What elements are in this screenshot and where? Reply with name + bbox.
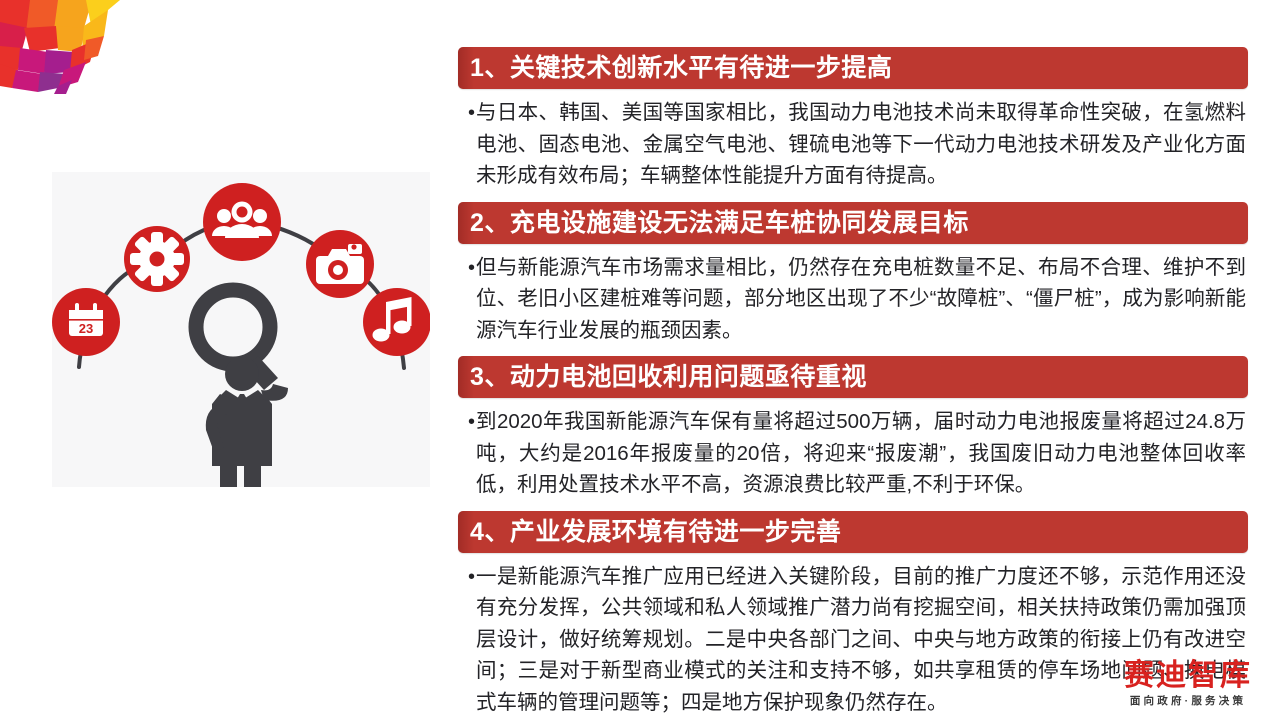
bullet-marker: • [468,406,475,438]
section-1-heading-bar: 1、关键技术创新水平有待进一步提高 [458,47,1248,89]
bullet-marker: • [468,252,475,284]
section-4-title: 4、产业发展环境有待进一步完善 [470,511,841,553]
bullet-marker: • [468,97,475,129]
music-note-icon [363,288,430,356]
polygonal-ribbon-graphic [0,0,120,95]
section-2-body: • 但与新能源汽车市场需求量相比，仍然存在充电桩数量不足、布局不合理、维护不到位… [458,250,1248,355]
section-3-title: 3、动力电池回收利用问题亟待重视 [470,356,867,398]
section-4-heading-bar: 4、产业发展环境有待进一步完善 [458,511,1248,553]
section-3-body: • 到2020年我国新能源汽车保有量将超过500万辆，届时动力电池报废量将超过2… [458,404,1248,509]
section-1-body: • 与日本、韩国、美国等国家相比，我国动力电池技术尚未取得革命性突破，在氢燃料电… [458,95,1248,200]
section-3-bullet-1: 到2020年我国新能源汽车保有量将超过500万辆，届时动力电池报废量将超过24.… [476,406,1246,501]
section-1-title: 1、关键技术创新水平有待进一步提高 [470,47,892,89]
calendar-icon: 23 [52,288,120,356]
section-2: 2、充电设施建设无法满足车桩协同发展目标 • 但与新能源汽车市场需求量相比，仍然… [458,202,1248,355]
section-1: 1、关键技术创新水平有待进一步提高 • 与日本、韩国、美国等国家相比，我国动力电… [458,47,1248,200]
logo-wordmark: 赛迪智库 [1124,661,1252,691]
illustration-panel: 23 [52,172,430,487]
businessman-with-magnifier-head: 23 [52,172,430,487]
brand-logo: 赛迪智库 面向政府·服务决策 [1124,661,1252,707]
logo-tagline: 面向政府·服务决策 [1124,696,1252,707]
content-column: 1、关键技术创新水平有待进一步提高 • 与日本、韩国、美国等国家相比，我国动力电… [458,47,1248,672]
camera-icon [306,230,374,298]
slide-canvas: 23 [0,0,1280,720]
svg-text:23: 23 [79,321,93,336]
section-2-title: 2、充电设施建设无法满足车桩协同发展目标 [470,202,969,244]
section-2-heading-bar: 2、充电设施建设无法满足车桩协同发展目标 [458,202,1248,244]
people-group-icon [203,183,281,261]
section-1-bullet-1: 与日本、韩国、美国等国家相比，我国动力电池技术尚未取得革命性突破，在氢燃料电池、… [476,97,1246,192]
section-3: 3、动力电池回收利用问题亟待重视 • 到2020年我国新能源汽车保有量将超过50… [458,356,1248,509]
bullet-marker: • [468,561,475,593]
section-3-heading-bar: 3、动力电池回收利用问题亟待重视 [458,356,1248,398]
gear-icon [124,226,190,292]
section-2-bullet-1: 但与新能源汽车市场需求量相比，仍然存在充电桩数量不足、布局不合理、维护不到位、老… [476,252,1246,347]
